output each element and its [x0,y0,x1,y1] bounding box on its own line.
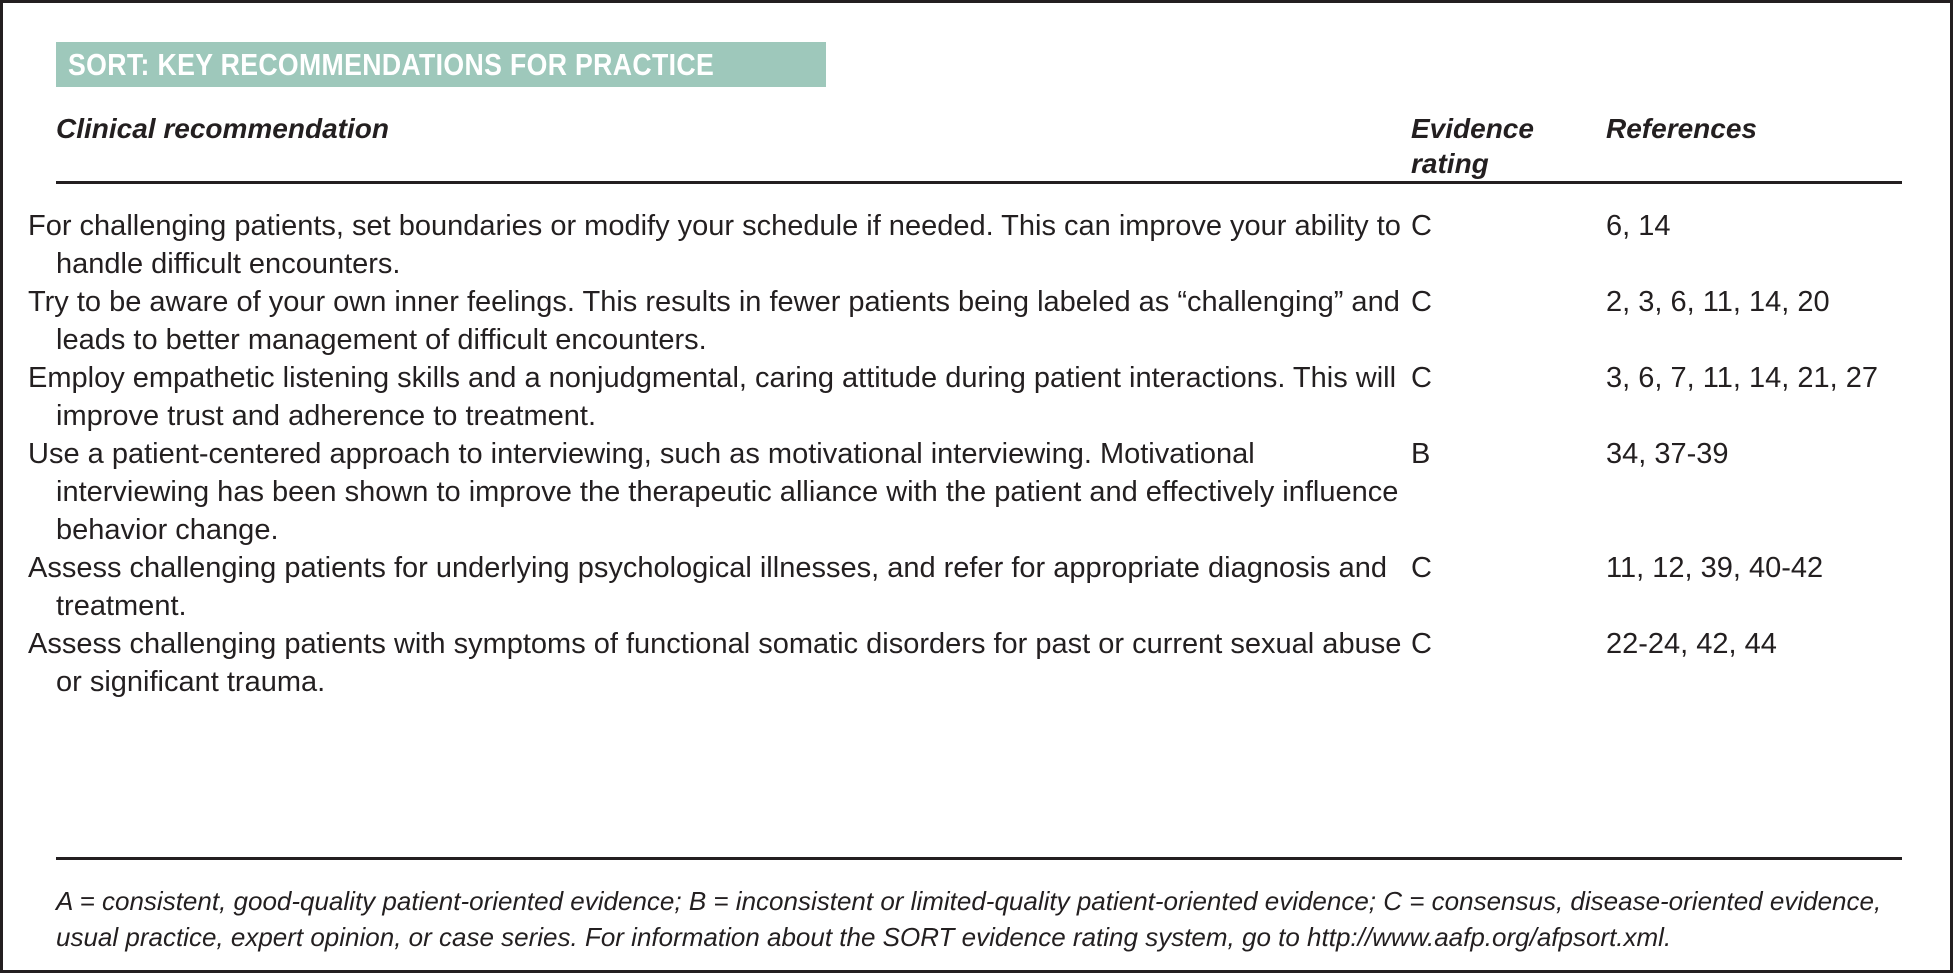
cell-evidence-rating: B [1411,435,1606,549]
column-header-evidence-rating-line2: rating [1411,148,1489,179]
cell-evidence-rating: C [1411,625,1606,701]
table-row: Assess challenging patients with symptom… [56,625,1902,701]
header-rule [56,181,1902,184]
table-head: Clinical recommendation Evidence rating … [56,111,1902,185]
cell-recommendation: Employ empathetic listening skills and a… [56,359,1411,435]
cell-references: 22-24, 42, 44 [1606,625,1902,701]
table-row: Assess challenging patients for underlyi… [56,549,1902,625]
table-row: Use a patient-centered approach to inter… [56,435,1902,549]
column-header-evidence-rating: Evidence rating [1411,111,1606,181]
cell-evidence-rating: C [1411,549,1606,625]
cell-recommendation: Assess challenging patients for underlyi… [56,549,1411,625]
cell-recommendation: Use a patient-centered approach to inter… [56,435,1411,549]
cell-references: 3, 6, 7, 11, 14, 21, 27 [1606,359,1902,435]
footnote-rule [56,857,1902,860]
column-header-evidence-rating-line1: Evidence [1411,113,1534,144]
table-row: Employ empathetic listening skills and a… [56,359,1902,435]
cell-recommendation: Assess challenging patients with symptom… [56,625,1411,701]
header-row: Clinical recommendation Evidence rating … [56,111,1902,181]
sort-table: Clinical recommendation Evidence rating … [56,111,1902,701]
sort-table-figure: SORT: KEY RECOMMENDATIONS FOR PRACTICE C… [0,0,1953,973]
cell-references: 2, 3, 6, 11, 14, 20 [1606,283,1902,359]
cell-recommendation: Try to be aware of your own inner feelin… [56,283,1411,359]
cell-evidence-rating: C [1411,185,1606,283]
banner: SORT: KEY RECOMMENDATIONS FOR PRACTICE [56,42,826,87]
cell-references: 6, 14 [1606,185,1902,283]
table-row: For challenging patients, set boundaries… [56,185,1902,283]
sort-table-wrapper: Clinical recommendation Evidence rating … [56,111,1902,701]
table-row: Try to be aware of your own inner feelin… [56,283,1902,359]
table-body: For challenging patients, set boundaries… [56,185,1902,701]
banner-title: SORT: KEY RECOMMENDATIONS FOR PRACTICE [56,47,714,83]
footnote-text: A = consistent, good-quality patient-ori… [56,883,1906,955]
cell-evidence-rating: C [1411,283,1606,359]
cell-evidence-rating: C [1411,359,1606,435]
cell-references: 34, 37-39 [1606,435,1902,549]
column-header-references: References [1606,111,1902,181]
cell-references: 11, 12, 39, 40-42 [1606,549,1902,625]
column-header-recommendation: Clinical recommendation [56,111,1411,181]
cell-recommendation: For challenging patients, set boundaries… [56,185,1411,283]
